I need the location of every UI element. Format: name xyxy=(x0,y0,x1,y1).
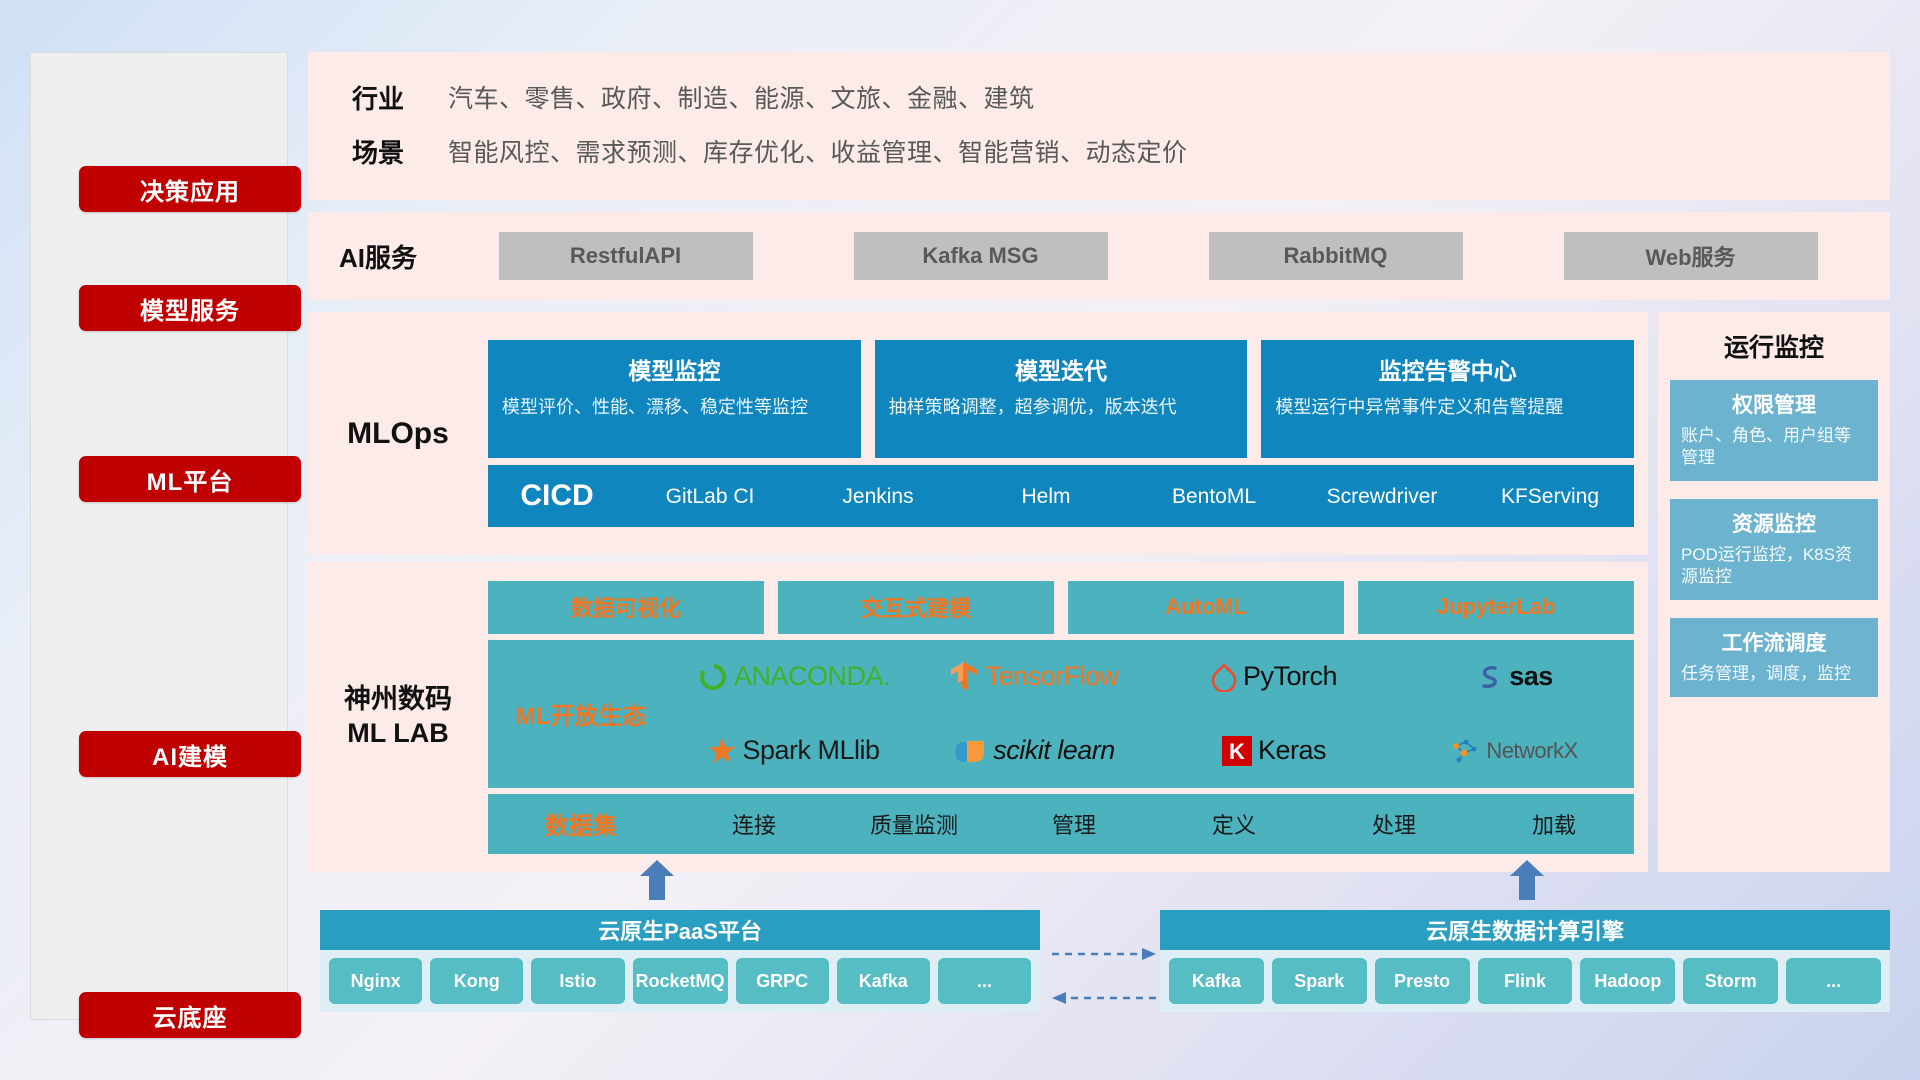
dataset-item-manage[interactable]: 管理 xyxy=(994,808,1154,840)
dataset-item-quality-monitoring[interactable]: 质量监测 xyxy=(834,808,994,840)
chip-nginx[interactable]: Nginx xyxy=(329,958,422,1004)
scenario-label: 场景 xyxy=(308,133,448,170)
mlops-panel: MLOps 模型监控 模型评价、性能、漂移、稳定性等监控 模型迭代 抽样策略调整… xyxy=(308,312,1648,555)
cicd-item-jenkins[interactable]: Jenkins xyxy=(794,486,962,507)
sas-logo: sas xyxy=(1394,640,1634,714)
chip-kafka[interactable]: Kafka xyxy=(1169,958,1264,1004)
ml-lab-tab-data-visualization[interactable]: 数据可视化 xyxy=(488,581,764,634)
cicd-bar: CICD GitLab CI Jenkins Helm BentoML Scre… xyxy=(488,465,1634,527)
anaconda-mark-icon xyxy=(698,662,728,692)
monitoring-card-desc: 任务管理，调度，监控 xyxy=(1681,663,1867,685)
dataset-item-list: 连接 质量监测 管理 定义 处理 加载 xyxy=(674,808,1634,840)
industry-label: 行业 xyxy=(308,79,448,116)
cloud-paas-chip-list: Nginx Kong Istio RocketMQ GRPC Kafka ... xyxy=(320,950,1040,1012)
monitoring-card-resources[interactable]: 资源监控 POD运行监控，K8S资源监控 xyxy=(1670,499,1878,600)
monitoring-card-permissions[interactable]: 权限管理 账户、角色、用户组等管理 xyxy=(1670,380,1878,481)
mlops-card-title: 模型监控 xyxy=(502,352,847,386)
cicd-item-bentoml[interactable]: BentoML xyxy=(1130,486,1298,507)
scenario-value: 智能风控、需求预测、库存优化、收益管理、智能营销、动态定价 xyxy=(448,133,1188,169)
rail-item-ai-modeling[interactable]: AI建模 xyxy=(79,731,301,777)
dataset-item-load[interactable]: 加载 xyxy=(1474,808,1634,840)
sas-logo-text: sas xyxy=(1509,661,1553,692)
ml-lab-tab-interactive-modeling[interactable]: 交互式建模 xyxy=(778,581,1054,634)
tensorflow-logo: TensorFlow xyxy=(914,640,1154,714)
mlops-card-model-monitoring[interactable]: 模型监控 模型评价、性能、漂移、稳定性等监控 xyxy=(488,340,861,458)
keras-logo-text: Keras xyxy=(1258,735,1326,766)
left-rail: 决策应用 模型服务 ML平台 AI建模 云底座 xyxy=(30,52,288,1020)
cloud-paas-title: 云原生PaaS平台 xyxy=(320,910,1040,950)
cicd-item-kfserving[interactable]: KFServing xyxy=(1466,486,1634,507)
networkx-logo: NetworkX xyxy=(1394,714,1634,788)
monitoring-card-desc: POD运行监控，K8S资源监控 xyxy=(1681,544,1867,588)
networkx-logo-text: NetworkX xyxy=(1486,738,1577,764)
monitoring-card-title: 权限管理 xyxy=(1681,389,1867,419)
rail-item-label: AI建模 xyxy=(152,737,228,772)
pytorch-logo-text: PyTorch xyxy=(1243,661,1337,692)
dataset-item-connect[interactable]: 连接 xyxy=(674,808,834,840)
run-monitoring-title: 运行监控 xyxy=(1670,328,1878,364)
data-engine-up-arrow-icon xyxy=(1510,860,1544,900)
cloud-data-engine-chip-list: Kafka Spark Presto Flink Hadoop Storm ..… xyxy=(1160,950,1890,1012)
mlops-content: 模型监控 模型评价、性能、漂移、稳定性等监控 模型迭代 抽样策略调整，超参调优，… xyxy=(488,340,1648,527)
keras-k-icon: K xyxy=(1222,736,1252,766)
ml-lab-label: 神州数码 ML LAB xyxy=(308,683,488,751)
monitoring-card-title: 工作流调度 xyxy=(1681,627,1867,657)
tensorflow-mark-icon xyxy=(949,661,979,693)
dataset-row: 数据集 连接 质量监测 管理 定义 处理 加载 xyxy=(488,794,1634,854)
chip-rocketmq[interactable]: RocketMQ xyxy=(633,958,728,1004)
ml-lab-tab-list: 数据可视化 交互式建模 AutoML JupyterLab xyxy=(488,581,1634,634)
chip-grpc[interactable]: GRPC xyxy=(736,958,829,1004)
ml-lab-content: 数据可视化 交互式建模 AutoML JupyterLab ML开放生态 ANA… xyxy=(488,581,1648,854)
scenario-row: 场景 智能风控、需求预测、库存优化、收益管理、智能营销、动态定价 xyxy=(308,124,1890,178)
mlops-card-desc: 抽样策略调整，超参调优，版本迭代 xyxy=(889,395,1234,419)
chip-istio[interactable]: Istio xyxy=(531,958,624,1004)
monitoring-card-workflow[interactable]: 工作流调度 任务管理，调度，监控 xyxy=(1670,618,1878,697)
monitoring-card-title: 资源监控 xyxy=(1681,508,1867,538)
ai-service-label: AI服务 xyxy=(308,238,448,275)
rail-item-ml-platform[interactable]: ML平台 xyxy=(79,456,301,502)
chip-hadoop[interactable]: Hadoop xyxy=(1580,958,1675,1004)
pytorch-flame-icon xyxy=(1211,662,1237,692)
industry-row: 行业 汽车、零售、政府、制造、能源、文旅、金融、建筑 xyxy=(308,70,1890,124)
mlops-card-alert-center[interactable]: 监控告警中心 模型运行中异常事件定义和告警提醒 xyxy=(1261,340,1634,458)
ai-service-box-restfulapi[interactable]: RestfulAPI xyxy=(499,232,753,280)
rail-item-label: 云底座 xyxy=(153,998,228,1033)
cloud-native-paas-block: 云原生PaaS平台 Nginx Kong Istio RocketMQ GRPC… xyxy=(320,910,1040,1012)
bidirectional-dashed-arrows-icon xyxy=(1052,942,1156,1010)
run-monitoring-panel: 运行监控 权限管理 账户、角色、用户组等管理 资源监控 POD运行监控，K8S资… xyxy=(1658,312,1890,872)
industry-value: 汽车、零售、政府、制造、能源、文旅、金融、建筑 xyxy=(448,79,1035,115)
ml-lab-tab-jupyterlab[interactable]: JupyterLab xyxy=(1358,581,1634,634)
mlops-card-title: 模型迭代 xyxy=(889,352,1234,386)
spark-mllib-logo: Spark MLlib xyxy=(674,714,914,788)
dataset-item-process[interactable]: 处理 xyxy=(1314,808,1474,840)
ai-service-box-list: RestfulAPI Kafka MSG RabbitMQ Web服务 xyxy=(448,232,1890,280)
scikit-learn-logo-text: scikit learn xyxy=(993,735,1115,766)
networkx-graph-icon xyxy=(1450,737,1480,765)
cicd-item-gitlab-ci[interactable]: GitLab CI xyxy=(626,486,794,507)
anaconda-logo: ANACONDA. xyxy=(674,640,914,714)
ml-lab-label-line1: 神州数码 xyxy=(308,683,488,717)
spark-mllib-logo-text: Spark MLlib xyxy=(742,735,879,766)
rail-item-decision-apps[interactable]: 决策应用 xyxy=(79,166,301,212)
keras-logo: K Keras xyxy=(1154,714,1394,788)
chip-kong[interactable]: Kong xyxy=(430,958,523,1004)
chip-kafka[interactable]: Kafka xyxy=(837,958,930,1004)
cicd-item-helm[interactable]: Helm xyxy=(962,486,1130,507)
svg-text:K: K xyxy=(1229,739,1245,764)
tensorflow-logo-text: TensorFlow xyxy=(985,661,1118,692)
sas-mark-icon xyxy=(1475,662,1503,692)
ml-open-ecosystem-label: ML开放生态 xyxy=(488,696,674,731)
diagram-canvas: 决策应用 模型服务 ML平台 AI建模 云底座 行业 汽车、零售、政府、制造、能… xyxy=(0,0,1920,1080)
scikit-blob-icon xyxy=(953,737,987,765)
rail-item-cloud-foundation[interactable]: 云底座 xyxy=(79,992,301,1038)
cloud-native-data-engine-block: 云原生数据计算引擎 Kafka Spark Presto Flink Hadoo… xyxy=(1160,910,1890,1012)
mlops-label: MLOps xyxy=(308,417,488,451)
rail-item-label: 模型服务 xyxy=(140,291,240,326)
pytorch-logo: PyTorch xyxy=(1154,640,1394,714)
cicd-item-list: GitLab CI Jenkins Helm BentoML Screwdriv… xyxy=(626,486,1634,507)
chip-more[interactable]: ... xyxy=(1786,958,1881,1004)
scikit-learn-logo: scikit learn xyxy=(914,714,1154,788)
paas-up-arrow-icon xyxy=(640,860,674,900)
ai-service-box-web-service[interactable]: Web服务 xyxy=(1564,232,1818,280)
chip-more[interactable]: ... xyxy=(938,958,1031,1004)
cloud-data-engine-title: 云原生数据计算引擎 xyxy=(1160,910,1890,950)
rail-item-label: 决策应用 xyxy=(140,172,240,207)
ml-lab-tab-automl[interactable]: AutoML xyxy=(1068,581,1344,634)
chip-presto[interactable]: Presto xyxy=(1375,958,1470,1004)
mlops-card-model-iteration[interactable]: 模型迭代 抽样策略调整，超参调优，版本迭代 xyxy=(875,340,1248,458)
mlops-card-list: 模型监控 模型评价、性能、漂移、稳定性等监控 模型迭代 抽样策略调整，超参调优，… xyxy=(488,340,1634,458)
ml-lab-panel: 神州数码 ML LAB 数据可视化 交互式建模 AutoML JupyterLa… xyxy=(308,562,1648,872)
anaconda-logo-text: ANACONDA. xyxy=(734,661,890,692)
cicd-item-screwdriver[interactable]: Screwdriver xyxy=(1298,486,1466,507)
chip-spark[interactable]: Spark xyxy=(1272,958,1367,1004)
dataset-item-define[interactable]: 定义 xyxy=(1154,808,1314,840)
decision-apps-panel: 行业 汽车、零售、政府、制造、能源、文旅、金融、建筑 场景 智能风控、需求预测、… xyxy=(308,52,1890,200)
mlops-card-title: 监控告警中心 xyxy=(1275,352,1620,386)
ai-service-box-kafka-msg[interactable]: Kafka MSG xyxy=(854,232,1108,280)
mlops-card-desc: 模型评价、性能、漂移、稳定性等监控 xyxy=(502,395,847,419)
chip-flink[interactable]: Flink xyxy=(1478,958,1573,1004)
cicd-label: CICD xyxy=(488,479,626,513)
ai-service-panel: AI服务 RestfulAPI Kafka MSG RabbitMQ Web服务 xyxy=(308,212,1890,300)
rail-item-model-service[interactable]: 模型服务 xyxy=(79,285,301,331)
rail-item-label: ML平台 xyxy=(147,462,234,497)
ml-lab-label-line2: ML LAB xyxy=(308,717,488,751)
mlops-card-desc: 模型运行中异常事件定义和告警提醒 xyxy=(1275,395,1620,419)
monitoring-card-desc: 账户、角色、用户组等管理 xyxy=(1681,425,1867,469)
ecosystem-logo-grid: ANACONDA. TensorFlow xyxy=(674,640,1634,788)
spark-star-icon xyxy=(708,737,736,765)
ml-open-ecosystem-row: ML开放生态 ANACONDA. TensorFlow xyxy=(488,640,1634,788)
chip-storm[interactable]: Storm xyxy=(1683,958,1778,1004)
dataset-label: 数据集 xyxy=(488,806,674,841)
ai-service-box-rabbitmq[interactable]: RabbitMQ xyxy=(1209,232,1463,280)
